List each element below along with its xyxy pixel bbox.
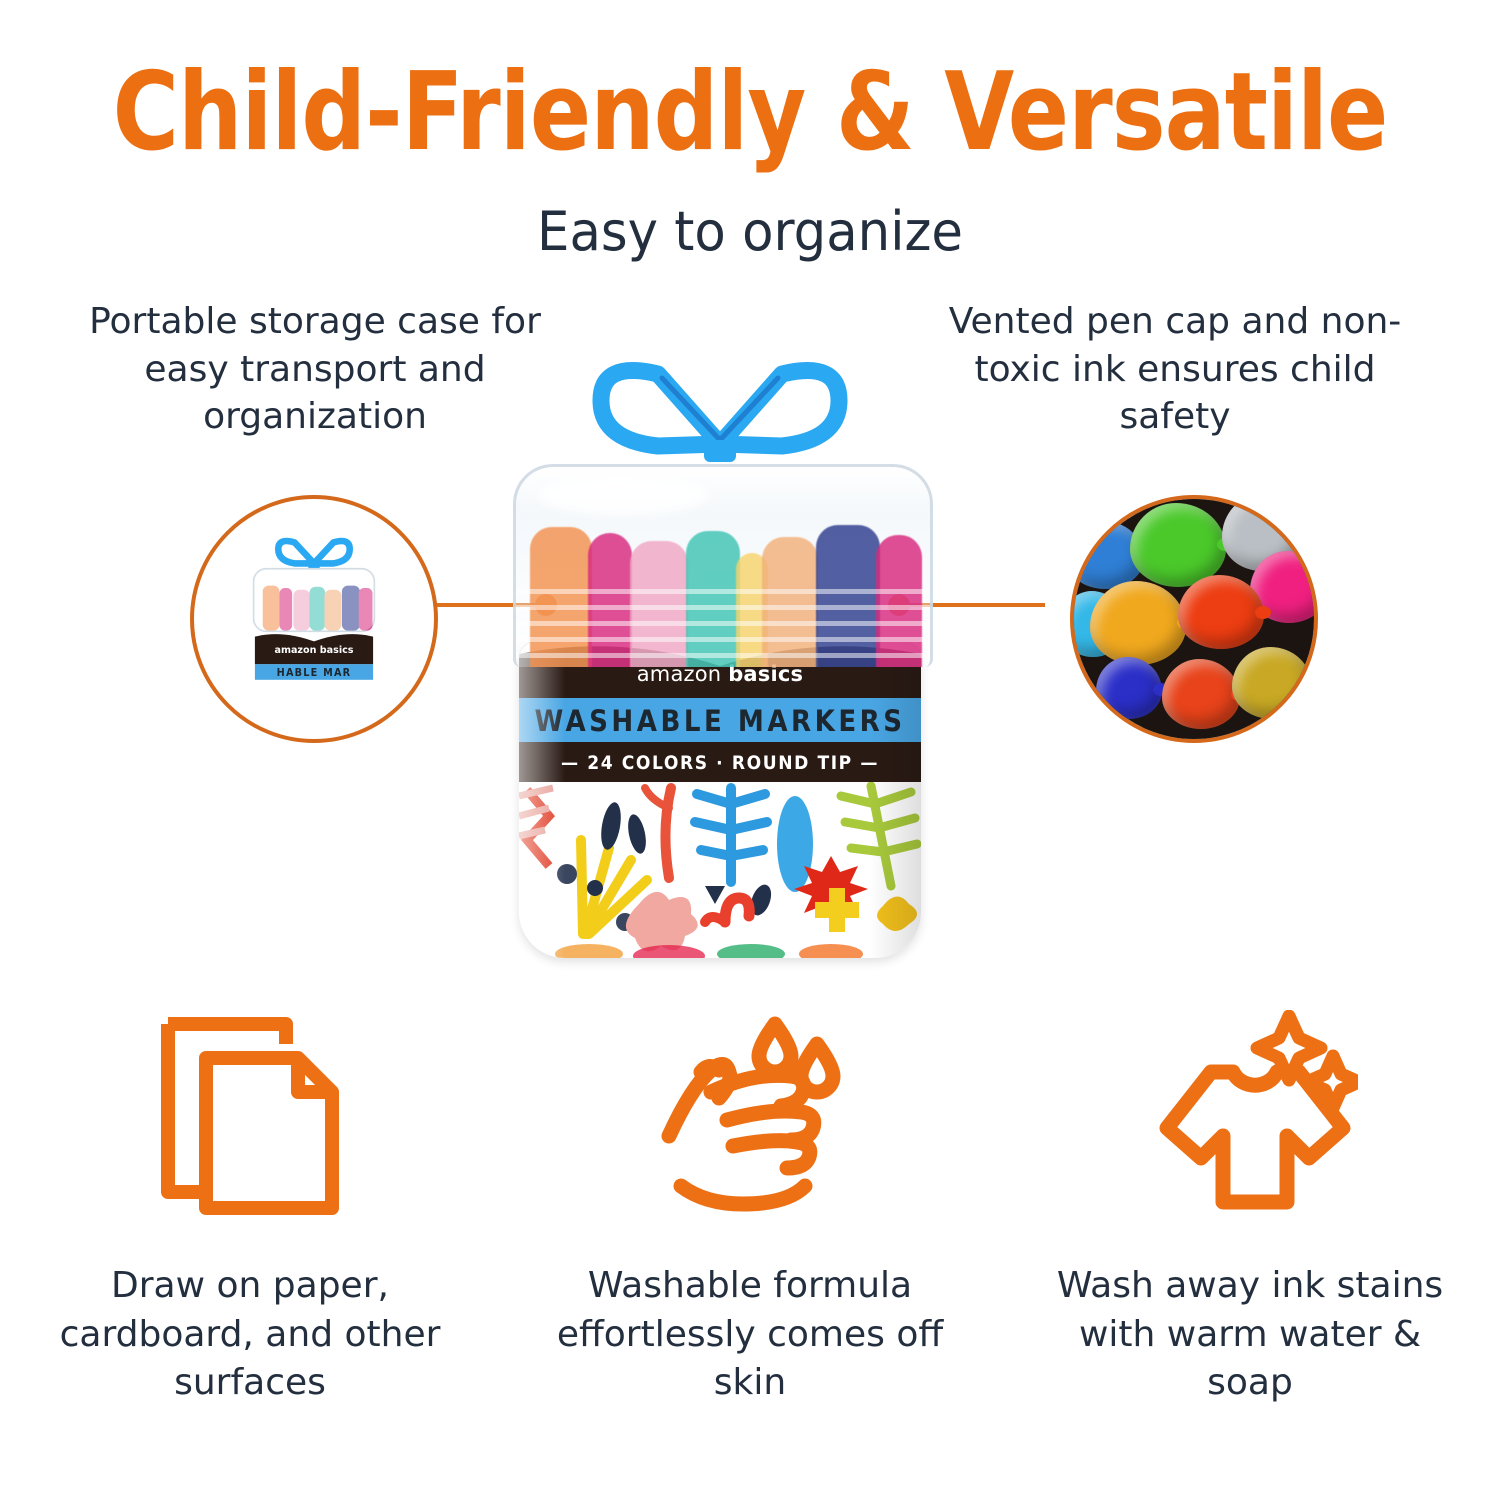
product-image: amazon basics WASHABLE MARKERS — 24 COLO…	[505, 352, 935, 962]
feature-item-stains: Wash away ink stains with warm water & s…	[1000, 1000, 1500, 1408]
product-jar: amazon basics WASHABLE MARKERS — 24 COLO…	[519, 642, 921, 958]
feature-row: Draw on paper, cardboard, and other surf…	[0, 1000, 1500, 1408]
svg-text:HABLE MAR: HABLE MAR	[277, 666, 352, 679]
decorative-pattern	[519, 782, 921, 958]
carry-handle-icon	[570, 348, 870, 468]
botanical-shapes	[519, 782, 921, 958]
magnifier-circle-storage-case: amazon basics HABLE MAR	[190, 495, 438, 743]
lid-gloss	[538, 475, 708, 515]
mini-product-illustration: amazon basics HABLE MAR	[250, 531, 379, 717]
page-subtitle: Easy to organize	[38, 200, 1463, 263]
product-headline: WASHABLE MARKERS	[519, 704, 921, 738]
feature-caption-stains: Wash away ink stains with warm water & s…	[1050, 1262, 1450, 1408]
feature-caption-paper: Draw on paper, cardboard, and other surf…	[50, 1262, 450, 1408]
feature-item-washable: Washable formula effortlessly comes off …	[500, 1000, 1000, 1408]
marker-caps-mosaic	[1074, 499, 1314, 739]
svg-text:amazon basics: amazon basics	[274, 645, 353, 656]
page-title: Child-Friendly & Versatile	[53, 56, 1448, 169]
jar-highlight	[519, 642, 565, 958]
tshirt-sparkle-icon	[1143, 1000, 1358, 1240]
magnifier-circle-marker-caps	[1070, 495, 1318, 743]
product-spec: — 24 COLORS · ROUND TIP —	[519, 752, 921, 774]
feature-caption-washable: Washable formula effortlessly comes off …	[550, 1262, 950, 1408]
feature-item-paper: Draw on paper, cardboard, and other surf…	[0, 1000, 500, 1408]
washing-hands-icon	[645, 1000, 855, 1240]
callout-text-vented-cap: Vented pen cap and non-toxic ink ensures…	[925, 298, 1425, 441]
pages-icon	[150, 1000, 350, 1240]
callout-text-portable-storage: Portable storage case for easy transport…	[55, 298, 575, 441]
product-lid	[513, 464, 933, 667]
jar-shadow	[869, 642, 921, 958]
infographic-canvas: Child-Friendly & Versatile Easy to organ…	[0, 0, 1500, 1500]
lid-ridges	[516, 589, 930, 667]
